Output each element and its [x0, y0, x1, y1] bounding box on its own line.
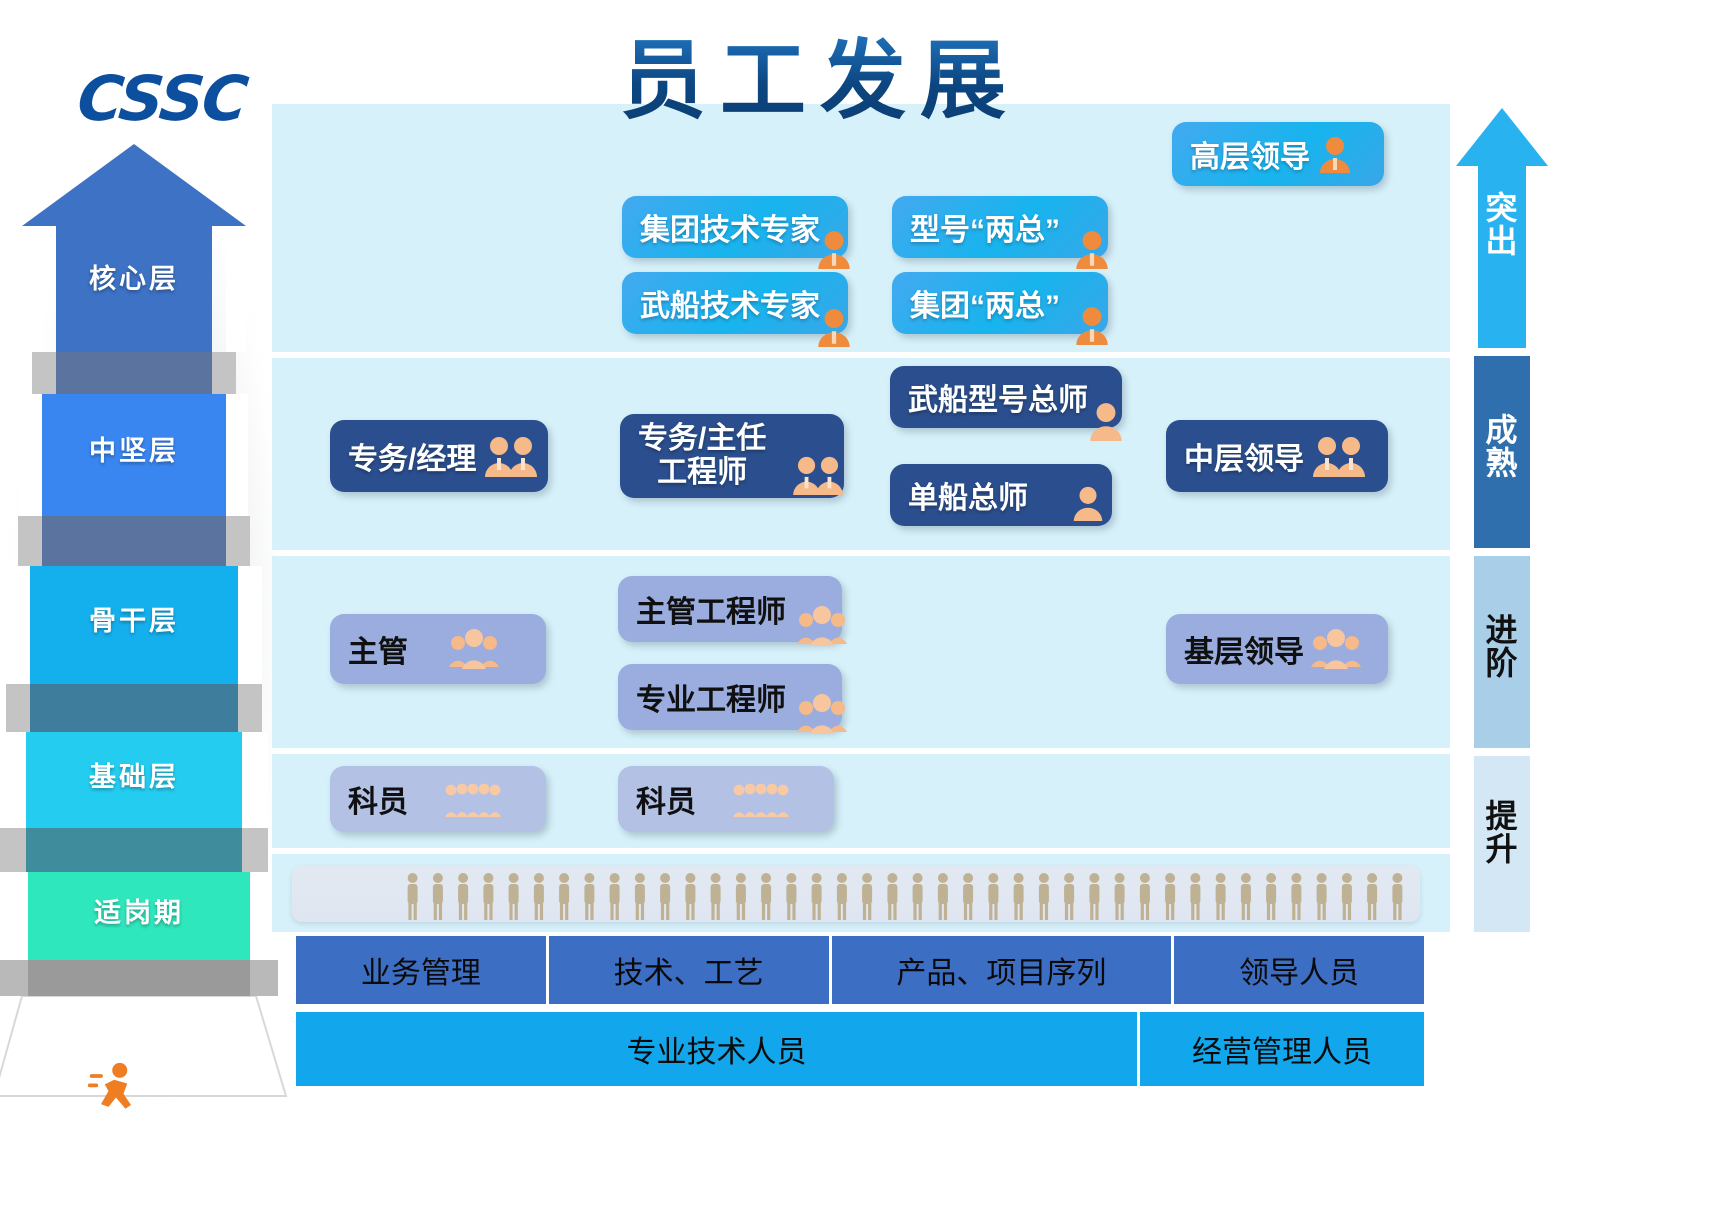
personnel-category-bar-row: 专业技术人员 经营管理人员 — [296, 1012, 1424, 1086]
pyramid-riser-1-sideL — [32, 352, 56, 394]
pill-wuchuan-model-chief[interactable]: 武船型号总师 — [890, 366, 1122, 428]
pyramid-riser-2-sideL — [18, 516, 42, 566]
pill-label: 专务/主任 工程师 — [638, 422, 766, 489]
pyramid-riser-3-sideL — [6, 684, 30, 732]
pyramid-riser-3-sideR — [238, 684, 262, 732]
sequence-cell-product-project[interactable]: 产品、项目序列 — [832, 936, 1175, 1004]
pill-commissioner-chief-engineer[interactable]: 专务/主任 工程师 — [620, 414, 844, 498]
pill-supervising-engineer[interactable]: 主管工程师 — [618, 576, 842, 642]
pyramid-riser-4-sideL — [0, 828, 26, 872]
group-three-icon — [448, 627, 500, 671]
pill-label: 专务/经理 — [348, 434, 476, 478]
pyramid-riser-4 — [26, 828, 242, 872]
pyramid-tier-base: 基础层 — [0, 732, 268, 828]
sequence-cell-business-management[interactable]: 业务管理 — [296, 936, 549, 1004]
stage-label-outstanding: 突 出 — [1468, 192, 1536, 257]
pill-label: 专业工程师 — [636, 675, 786, 719]
personnel-cell-management[interactable]: 经营管理人员 — [1140, 1012, 1424, 1086]
pill-commissioner-manager[interactable]: 专务/经理 — [330, 420, 548, 492]
pyramid-tier-label-onboard: 适岗期 — [0, 900, 278, 927]
pill-label: 型号“两总” — [910, 205, 1060, 249]
stage-label-line1: 成 — [1468, 414, 1536, 447]
cssc-logo: CSSC — [74, 62, 250, 135]
pyramid-riser-2-sideR — [226, 516, 250, 566]
pyramid-riser-3 — [30, 684, 238, 732]
sequence-cell-technology-process[interactable]: 技术、工艺 — [549, 936, 832, 1004]
pyramid-riser-5-sideL — [0, 960, 28, 996]
sequence-cell-leadership[interactable]: 领导人员 — [1174, 936, 1424, 1004]
stage-label-line1: 突 — [1468, 192, 1536, 225]
stage-label-line2: 阶 — [1468, 647, 1536, 680]
stage-label-mature: 成 熟 — [1468, 414, 1536, 479]
pill-label: 武船技术专家 — [640, 281, 820, 325]
crowd-icon — [732, 779, 796, 819]
running-person-icon — [86, 1060, 146, 1120]
pyramid-tier-onboard: 适岗期 — [0, 872, 278, 960]
single-person-icon — [814, 306, 854, 348]
stage-label-line2: 出 — [1468, 225, 1536, 258]
pill-model-two-chiefs[interactable]: 型号“两总” — [892, 196, 1108, 258]
single-person-icon — [814, 228, 854, 270]
pyramid-riser-5 — [28, 960, 250, 996]
stage-segment-mature: 成 熟 — [1468, 356, 1536, 548]
single-person-icon — [1072, 228, 1112, 270]
pill-group-tech-expert[interactable]: 集团技术专家 — [622, 196, 848, 258]
pill-label: 主管 — [348, 627, 408, 671]
sequence-bar-row: 业务管理 技术、工艺 产品、项目序列 领导人员 — [296, 936, 1424, 1004]
page-title: 员工发展 — [560, 36, 1080, 126]
crowd-icon — [444, 779, 508, 819]
pill-label: 集团“两总” — [910, 281, 1060, 325]
pill-single-ship-chief[interactable]: 单船总师 — [890, 464, 1112, 526]
pill-label: 中层领导 — [1184, 434, 1304, 478]
pill-label: 基层领导 — [1184, 627, 1304, 671]
pyramid-tier-label-base: 基础层 — [0, 764, 268, 791]
pill-senior-leader[interactable]: 高层领导 — [1172, 122, 1384, 186]
single-person-icon — [1086, 400, 1126, 442]
crowd-figures — [400, 870, 1410, 922]
pill-label: 科员 — [348, 777, 408, 821]
single-person-icon — [1316, 134, 1354, 174]
crowd-row-icon — [292, 866, 1420, 922]
pyramid-tier-label-core: 核心层 — [0, 266, 268, 293]
stage-arrow-column: 突 出 成 熟 进 阶 提 升 — [1468, 104, 1568, 932]
pyramid-riser-1 — [56, 352, 212, 394]
group-three-icon — [1310, 627, 1362, 671]
tier-core-shape — [0, 130, 268, 352]
pyramid-riser-1-sideR — [212, 352, 236, 394]
stage-segment-improve: 提 升 — [1468, 756, 1536, 932]
pill-clerk-1[interactable]: 科员 — [330, 766, 546, 832]
slide-root: 核心层 中坚层 骨干层 基础层 — [0, 0, 1731, 1213]
stage-label-advanced: 进 阶 — [1468, 614, 1536, 679]
pyramid-riser-2 — [42, 516, 226, 566]
pill-wuchuan-tech-expert[interactable]: 武船技术专家 — [622, 272, 848, 334]
stage-label-line2: 升 — [1468, 833, 1536, 866]
pill-grassroots-leader[interactable]: 基层领导 — [1166, 614, 1388, 684]
career-pyramid: 核心层 中坚层 骨干层 基础层 — [0, 130, 300, 1130]
group-three-icon — [796, 604, 848, 648]
two-person-icon — [790, 454, 846, 496]
single-person-icon — [1070, 484, 1106, 522]
pill-label: 高层领导 — [1190, 132, 1310, 176]
stage-label-line1: 提 — [1468, 800, 1536, 833]
pyramid-tier-backbone: 骨干层 — [6, 566, 262, 684]
stage-segment-outstanding: 突 出 — [1468, 104, 1536, 348]
pyramid-riser-4-sideR — [242, 828, 268, 872]
pill-supervisor[interactable]: 主管 — [330, 614, 546, 684]
two-person-icon — [1310, 434, 1368, 478]
pill-label: 科员 — [636, 777, 696, 821]
two-person-icon — [482, 434, 540, 478]
pyramid-tier-core: 核心层 — [0, 130, 268, 352]
pill-clerk-2[interactable]: 科员 — [618, 766, 834, 832]
pill-middle-leader[interactable]: 中层领导 — [1166, 420, 1388, 492]
stage-label-line2: 熟 — [1468, 447, 1536, 480]
pyramid-base-slab — [0, 996, 294, 1116]
pill-professional-engineer[interactable]: 专业工程师 — [618, 664, 842, 730]
stage-label-line1: 进 — [1468, 614, 1536, 647]
pill-group-two-chiefs[interactable]: 集团“两总” — [892, 272, 1108, 334]
group-three-icon — [796, 692, 848, 736]
pyramid-riser-5-sideR — [250, 960, 278, 996]
pill-label: 集团技术专家 — [640, 205, 820, 249]
pill-label: 单船总师 — [908, 473, 1028, 517]
pyramid-tier-label-mid: 中坚层 — [20, 438, 248, 465]
single-person-icon — [1072, 304, 1112, 346]
stage-label-improve: 提 升 — [1468, 800, 1536, 865]
stage-segment-advanced: 进 阶 — [1468, 556, 1536, 748]
pill-label-line2: 工程师 — [638, 456, 766, 490]
pill-label-line1: 专务/主任 — [638, 422, 766, 456]
personnel-cell-technical[interactable]: 专业技术人员 — [296, 1012, 1140, 1086]
pill-label: 主管工程师 — [636, 587, 786, 631]
pill-label: 武船型号总师 — [908, 375, 1088, 419]
pyramid-tier-label-backbone: 骨干层 — [6, 608, 262, 635]
pyramid-tier-mid: 中坚层 — [20, 394, 248, 516]
